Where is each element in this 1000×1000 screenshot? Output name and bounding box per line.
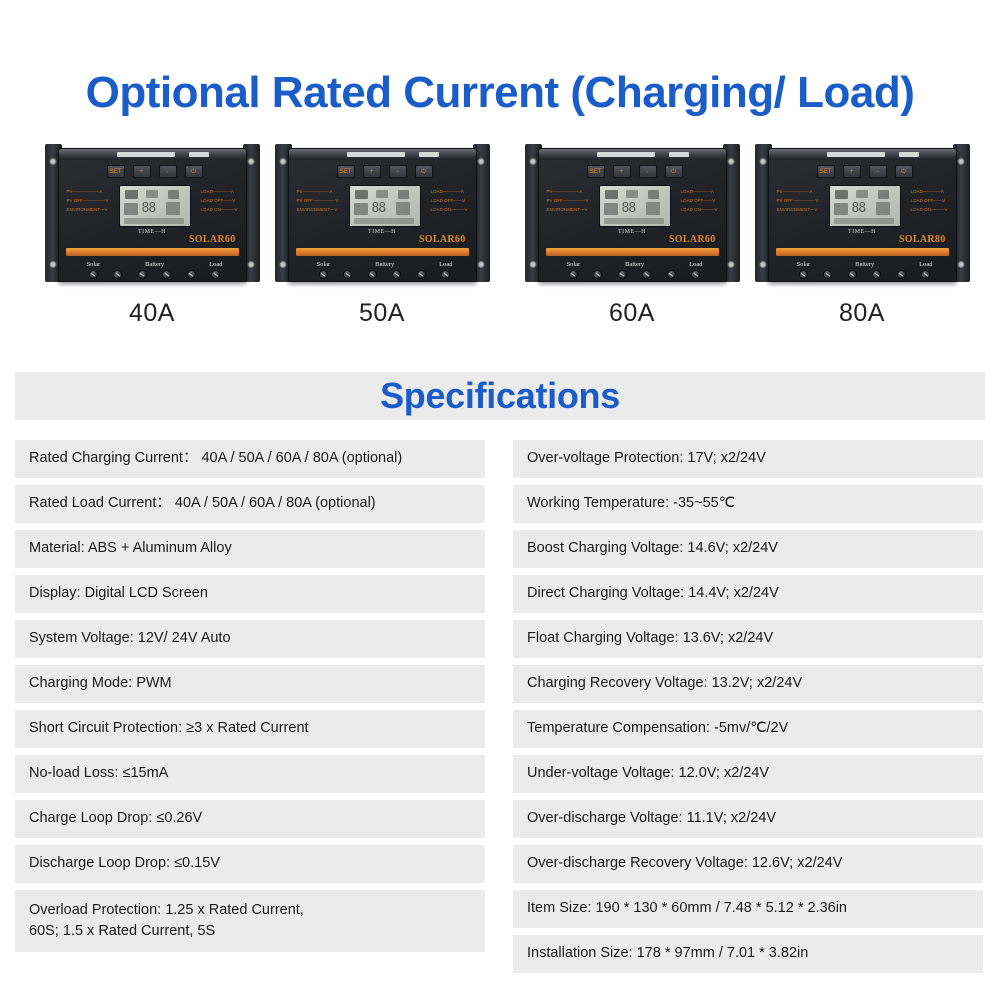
terminal-screw[interactable] <box>113 270 122 279</box>
terminal-screw[interactable] <box>872 270 881 279</box>
heatsink-lip <box>59 149 246 160</box>
terminal-group-label: Battery <box>145 261 164 268</box>
control-button[interactable]: SET <box>587 165 605 178</box>
terminal-screw-row <box>319 270 451 279</box>
terminal-screw[interactable] <box>667 270 676 279</box>
terminal-screw[interactable] <box>441 270 450 279</box>
terminal-group-label: Battery <box>375 261 394 268</box>
terminal-screw[interactable] <box>799 270 808 279</box>
spec-row: Overload Protection: 1.25 x Rated Curren… <box>15 890 485 952</box>
spec-text: Short Circuit Protection: ≥3 x Rated Cur… <box>29 718 309 739</box>
spec-text: Rated Charging Current： 40A / 50A / 60A … <box>29 448 402 469</box>
terminal-screw[interactable] <box>319 270 328 279</box>
brand-label: SOLAR60 <box>669 234 716 245</box>
terminal-label: PV——————A <box>777 187 819 196</box>
terminal-label: ENVIRONMENT—V <box>297 205 339 214</box>
spec-row: Float Charging Voltage: 13.6V; x2/24V <box>513 620 983 658</box>
terminal-screw[interactable] <box>89 270 98 279</box>
terminal-label: PV OFF—————V <box>777 196 819 205</box>
spec-row: Display: Digital LCD Screen <box>15 575 485 613</box>
terminal-group-label: Load <box>919 261 932 268</box>
vent-slot-icon <box>827 152 885 157</box>
spec-text: Direct Charging Voltage: 14.4V; x2/24V <box>527 583 779 604</box>
spec-row: Working Temperature: -35~55℃ <box>513 485 983 523</box>
vent-slot-icon <box>899 152 919 157</box>
spec-row: Temperature Compensation: -5mv/℃/2V <box>513 710 983 748</box>
terminal-screw[interactable] <box>921 270 930 279</box>
specifications-right-column: Over-voltage Protection: 17V; x2/24VWork… <box>513 440 983 980</box>
control-button[interactable]: - <box>159 165 177 178</box>
spec-text: Over-discharge Voltage: 11.1V; x2/24V <box>527 808 776 829</box>
terminal-group-label: Load <box>209 261 222 268</box>
brand-label: SOLAR80 <box>899 234 946 245</box>
orange-stripe <box>296 248 469 256</box>
lcd-reading: 88 <box>142 202 156 215</box>
spec-text: Discharge Loop Drop: ≤0.15V <box>29 853 220 874</box>
variant-amp-label: 50A <box>359 299 405 328</box>
terminal-label: LOAD————A <box>681 187 718 196</box>
right-terminal-labels: LOAD————ALOAD OFF——VLOAD ON———V <box>681 187 718 214</box>
spec-row: Over-voltage Protection: 17V; x2/24V <box>513 440 983 478</box>
spec-row: Charging Recovery Voltage: 13.2V; x2/24V <box>513 665 983 703</box>
charge-controller-unit: SET+-⏻88PV——————APV OFF—————VENVIRONMENT… <box>755 140 970 290</box>
right-terminal-labels: LOAD————ALOAD OFF——VLOAD ON———V <box>201 187 238 214</box>
spec-row: Direct Charging Voltage: 14.4V; x2/24V <box>513 575 983 613</box>
orange-stripe <box>66 248 239 256</box>
lcd-screen: 88 <box>349 185 421 227</box>
terminal-screw[interactable] <box>392 270 401 279</box>
spec-text: Float Charging Voltage: 13.6V; x2/24V <box>527 628 773 649</box>
lcd-screen: 88 <box>829 185 901 227</box>
terminal-titles: SolarBatteryLoad <box>317 261 453 268</box>
terminal-label: PV——————A <box>297 187 339 196</box>
vent-slot-icon <box>669 152 689 157</box>
mounting-hole-icon <box>728 158 735 165</box>
button-row: SET+-⏻ <box>337 165 433 180</box>
charge-controller-unit: SET+-⏻88PV——————APV OFF—————VENVIRONMENT… <box>275 140 490 290</box>
product-variant-gallery: SET+-⏻88PV——————APV OFF—————VENVIRONMENT… <box>0 140 1000 335</box>
spec-text: Charging Mode: PWM <box>29 673 172 694</box>
mounting-hole-icon <box>728 261 735 268</box>
control-button[interactable]: SET <box>817 165 835 178</box>
terminal-screw-row <box>799 270 931 279</box>
terminal-group-label: Solar <box>87 261 101 268</box>
spec-row: Short Circuit Protection: ≥3 x Rated Cur… <box>15 710 485 748</box>
spec-text: Over-voltage Protection: 17V; x2/24V <box>527 448 766 469</box>
left-terminal-labels: PV——————APV OFF—————VENVIRONMENT—V <box>297 187 339 214</box>
terminal-screw[interactable] <box>823 270 832 279</box>
spec-text: Display: Digital LCD Screen <box>29 583 208 604</box>
terminal-group-label: Solar <box>317 261 331 268</box>
product-variant-50a: SET+-⏻88PV——————APV OFF—————VENVIRONMENT… <box>257 140 507 335</box>
button-row: SET+-⏻ <box>587 165 683 180</box>
mounting-hole-icon <box>760 261 767 268</box>
control-button[interactable]: + <box>613 165 631 178</box>
mounting-hole-icon <box>478 261 485 268</box>
terminal-screw[interactable] <box>187 270 196 279</box>
spec-text: Over-discharge Recovery Voltage: 12.6V; … <box>527 853 842 874</box>
control-button[interactable]: ⏻ <box>415 165 433 178</box>
lcd-reading: 88 <box>852 202 866 215</box>
spec-row: Installation Size: 178 * 97mm / 7.01 * 3… <box>513 935 983 973</box>
spec-text: Working Temperature: -35~55℃ <box>527 493 735 514</box>
variant-amp-label: 40A <box>129 299 175 328</box>
spec-row: Under-voltage Voltage: 12.0V; x2/24V <box>513 755 983 793</box>
terminal-label: PV——————A <box>67 187 109 196</box>
mounting-hole-icon <box>958 158 965 165</box>
terminal-screw[interactable] <box>569 270 578 279</box>
terminal-screw[interactable] <box>417 270 426 279</box>
spec-row: Boost Charging Voltage: 14.6V; x2/24V <box>513 530 983 568</box>
orange-stripe <box>776 248 949 256</box>
terminal-label: ENVIRONMENT—V <box>777 205 819 214</box>
controller-body: SET+-⏻88PV——————APV OFF—————VENVIRONMENT… <box>538 148 727 282</box>
terminal-group-label: Battery <box>855 261 874 268</box>
spec-row: Rated Charging Current： 40A / 50A / 60A … <box>15 440 485 478</box>
lcd-reading: 88 <box>372 202 386 215</box>
charge-controller-unit: SET+-⏻88PV——————APV OFF—————VENVIRONMENT… <box>525 140 740 290</box>
button-row: SET+-⏻ <box>107 165 203 180</box>
spec-text: Charging Recovery Voltage: 13.2V; x2/24V <box>527 673 802 694</box>
terminal-label: LOAD————A <box>431 187 468 196</box>
mounting-hole-icon <box>478 158 485 165</box>
controller-body: SET+-⏻88PV——————APV OFF—————VENVIRONMENT… <box>288 148 477 282</box>
vent-slot-icon <box>419 152 439 157</box>
vent-slot-icon <box>189 152 209 157</box>
product-variant-80a: SET+-⏻88PV——————APV OFF—————VENVIRONMENT… <box>737 140 987 335</box>
terminal-screw[interactable] <box>138 270 147 279</box>
vent-slot-icon <box>117 152 175 157</box>
control-button[interactable]: SET <box>107 165 125 178</box>
mounting-hole-icon <box>50 261 57 268</box>
terminal-titles: SolarBatteryLoad <box>87 261 223 268</box>
spec-text: Rated Load Current： 40A / 50A / 60A / 80… <box>29 493 376 514</box>
specifications-header: Specifications <box>15 372 985 420</box>
spec-text: Charge Loop Drop: ≤0.26V <box>29 808 202 829</box>
terminal-label: LOAD————A <box>911 187 948 196</box>
terminal-screw[interactable] <box>691 270 700 279</box>
variant-amp-label: 80A <box>839 299 885 328</box>
left-terminal-labels: PV——————APV OFF—————VENVIRONMENT—V <box>547 187 589 214</box>
terminal-titles: SolarBatteryLoad <box>567 261 703 268</box>
control-button[interactable]: - <box>869 165 887 178</box>
mounting-hole-icon <box>280 158 287 165</box>
terminal-screw[interactable] <box>368 270 377 279</box>
brand-label: SOLAR60 <box>189 234 236 245</box>
control-button[interactable]: - <box>389 165 407 178</box>
spec-row: Charge Loop Drop: ≤0.26V <box>15 800 485 838</box>
terminal-label: LOAD ON———V <box>681 205 718 214</box>
terminal-label: LOAD ON———V <box>201 205 238 214</box>
terminal-screw[interactable] <box>593 270 602 279</box>
charge-controller-unit: SET+-⏻88PV——————APV OFF—————VENVIRONMENT… <box>45 140 260 290</box>
control-button[interactable]: + <box>843 165 861 178</box>
button-row: SET+-⏻ <box>817 165 913 180</box>
terminal-group-label: Battery <box>625 261 644 268</box>
mounting-hole-icon <box>280 261 287 268</box>
terminal-screw[interactable] <box>897 270 906 279</box>
spec-row: Over-discharge Voltage: 11.1V; x2/24V <box>513 800 983 838</box>
mounting-hole-icon <box>530 158 537 165</box>
control-button[interactable]: SET <box>337 165 355 178</box>
product-spec-page: Optional Rated Current (Charging/ Load) … <box>0 0 1000 1000</box>
terminal-label: LOAD OFF——V <box>431 196 468 205</box>
terminal-group-label: Solar <box>797 261 811 268</box>
terminal-screw[interactable] <box>848 270 857 279</box>
terminal-screw[interactable] <box>618 270 627 279</box>
spec-text: Under-voltage Voltage: 12.0V; x2/24V <box>527 763 769 784</box>
spec-text: Material: ABS + Aluminum Alloy <box>29 538 232 559</box>
left-terminal-labels: PV——————APV OFF—————VENVIRONMENT—V <box>67 187 109 214</box>
spec-text: Temperature Compensation: -5mv/℃/2V <box>527 718 788 739</box>
terminal-screw[interactable] <box>642 270 651 279</box>
page-title: Optional Rated Current (Charging/ Load) <box>86 68 915 118</box>
orange-stripe <box>546 248 719 256</box>
terminal-group-label: Load <box>689 261 702 268</box>
lcd-screen: 88 <box>599 185 671 227</box>
terminal-label: ENVIRONMENT—V <box>67 205 109 214</box>
terminal-group-label: Load <box>439 261 452 268</box>
terminal-screw-row <box>569 270 701 279</box>
heatsink-lip <box>289 149 476 160</box>
spec-row: No-load Loss: ≤15mA <box>15 755 485 793</box>
specifications-left-column: Rated Charging Current： 40A / 50A / 60A … <box>15 440 485 959</box>
terminal-label: PV OFF—————V <box>547 196 589 205</box>
variant-amp-label: 60A <box>609 299 655 328</box>
terminal-screw[interactable] <box>211 270 220 279</box>
spec-row: System Voltage: 12V/ 24V Auto <box>15 620 485 658</box>
right-terminal-labels: LOAD————ALOAD OFF——VLOAD ON———V <box>431 187 468 214</box>
spec-text: No-load Loss: ≤15mA <box>29 763 168 784</box>
controller-body: SET+-⏻88PV——————APV OFF—————VENVIRONMENT… <box>58 148 247 282</box>
spec-row: Discharge Loop Drop: ≤0.15V <box>15 845 485 883</box>
terminal-label: ENVIRONMENT—V <box>547 205 589 214</box>
spec-text: System Voltage: 12V/ 24V Auto <box>29 628 231 649</box>
spec-text: Overload Protection: 1.25 x Rated Curren… <box>29 900 304 942</box>
spec-row: Item Size: 190 * 130 * 60mm / 7.48 * 5.1… <box>513 890 983 928</box>
control-button[interactable]: ⏻ <box>895 165 913 178</box>
terminal-group-label: Solar <box>567 261 581 268</box>
control-button[interactable]: ⏻ <box>185 165 203 178</box>
right-terminal-labels: LOAD————ALOAD OFF——VLOAD ON———V <box>911 187 948 214</box>
control-button[interactable]: ⏻ <box>665 165 683 178</box>
mounting-hole-icon <box>760 158 767 165</box>
terminal-label: PV——————A <box>547 187 589 196</box>
heatsink-lip <box>539 149 726 160</box>
mounting-hole-icon <box>958 261 965 268</box>
terminal-screw[interactable] <box>162 270 171 279</box>
terminal-label: LOAD ON———V <box>431 205 468 214</box>
controller-body: SET+-⏻88PV——————APV OFF—————VENVIRONMENT… <box>768 148 957 282</box>
vent-slot-icon <box>597 152 655 157</box>
lcd-reading: 88 <box>622 202 636 215</box>
terminal-screw[interactable] <box>343 270 352 279</box>
brand-label: SOLAR60 <box>419 234 466 245</box>
spec-row: Over-discharge Recovery Voltage: 12.6V; … <box>513 845 983 883</box>
spec-row: Charging Mode: PWM <box>15 665 485 703</box>
lcd-screen: 88 <box>119 185 191 227</box>
control-button[interactable]: + <box>363 165 381 178</box>
page-title-band: Optional Rated Current (Charging/ Load) <box>0 62 1000 124</box>
product-variant-60a: SET+-⏻88PV——————APV OFF—————VENVIRONMENT… <box>507 140 757 335</box>
control-button[interactable]: - <box>639 165 657 178</box>
product-variant-40a: SET+-⏻88PV——————APV OFF—————VENVIRONMENT… <box>27 140 277 335</box>
mounting-hole-icon <box>50 158 57 165</box>
terminal-label: LOAD OFF——V <box>911 196 948 205</box>
terminal-label: LOAD OFF——V <box>681 196 718 205</box>
specifications-heading: Specifications <box>380 375 620 417</box>
terminal-label: LOAD————A <box>201 187 238 196</box>
spec-row: Rated Load Current： 40A / 50A / 60A / 80… <box>15 485 485 523</box>
left-terminal-labels: PV——————APV OFF—————VENVIRONMENT—V <box>777 187 819 214</box>
terminal-label: PV OFF—————V <box>297 196 339 205</box>
control-button[interactable]: + <box>133 165 151 178</box>
terminal-screw-row <box>89 270 221 279</box>
terminal-label: LOAD OFF——V <box>201 196 238 205</box>
spec-row: Material: ABS + Aluminum Alloy <box>15 530 485 568</box>
terminal-label: PV OFF—————V <box>67 196 109 205</box>
mounting-hole-icon <box>530 261 537 268</box>
spec-text: Boost Charging Voltage: 14.6V; x2/24V <box>527 538 778 559</box>
heatsink-lip <box>769 149 956 160</box>
terminal-titles: SolarBatteryLoad <box>797 261 933 268</box>
spec-text: Item Size: 190 * 130 * 60mm / 7.48 * 5.1… <box>527 898 847 919</box>
mounting-hole-icon <box>248 158 255 165</box>
mounting-hole-icon <box>248 261 255 268</box>
terminal-label: LOAD ON———V <box>911 205 948 214</box>
vent-slot-icon <box>347 152 405 157</box>
spec-text: Installation Size: 178 * 97mm / 7.01 * 3… <box>527 943 808 964</box>
